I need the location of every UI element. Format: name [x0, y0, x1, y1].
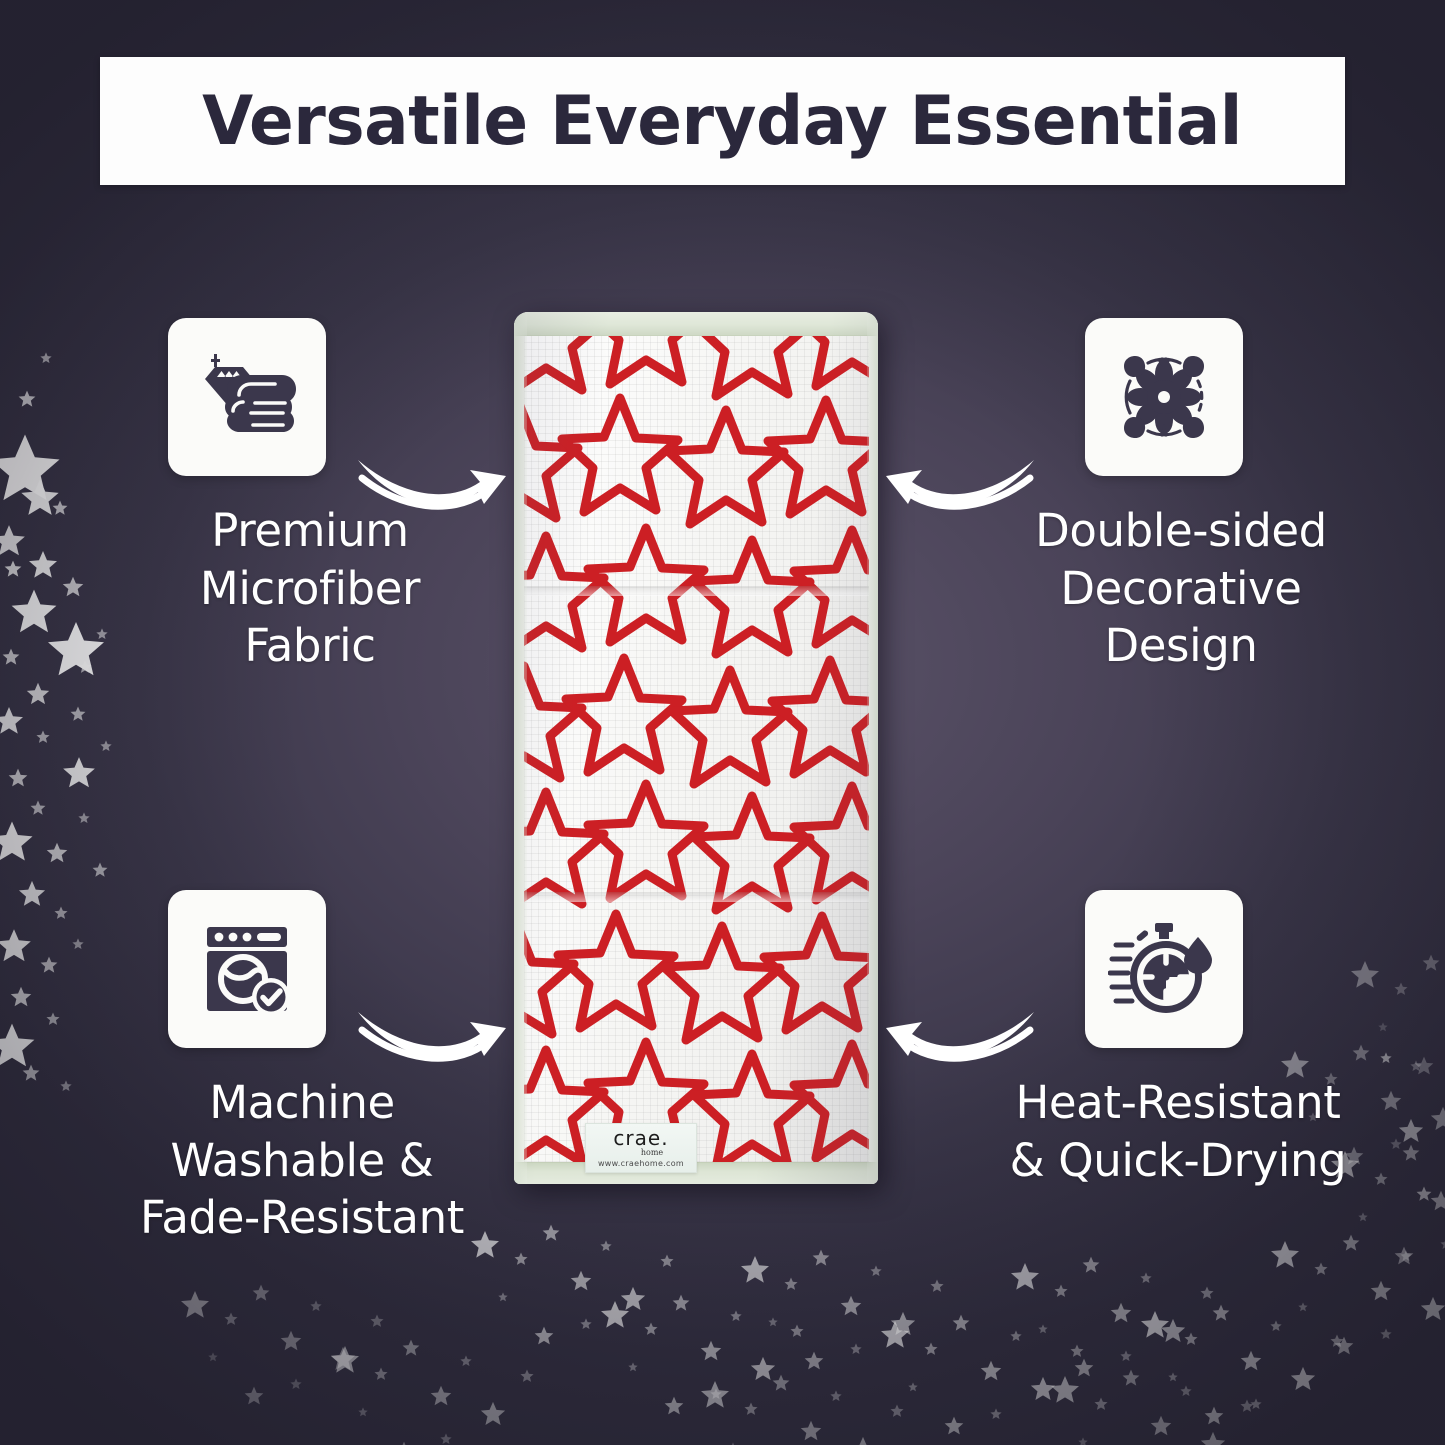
diamond-folded-towels-icon: [191, 341, 303, 453]
towel-hem-right: [867, 312, 878, 1184]
feature-label-line: & Quick-Drying: [963, 1132, 1393, 1190]
feature-label-line: Machine: [102, 1074, 502, 1132]
feature-label-line: Heat-Resistant: [963, 1074, 1393, 1132]
feature-icon-box: [1085, 318, 1243, 476]
towel-star-print: [524, 336, 869, 1162]
feature-icon-box: [1085, 890, 1243, 1048]
towel-fabric-field: [524, 336, 869, 1162]
ornamental-flower-pattern-icon: [1108, 341, 1220, 453]
feature-machine-washable-fade-resistant: Machine Washable & Fade-Resistant: [92, 890, 512, 1247]
page-title: Versatile Everyday Essential: [203, 82, 1243, 161]
feature-label: Premium Microfiber Fabric: [110, 502, 510, 675]
feature-label: Heat-Resistant & Quick-Drying: [963, 1074, 1393, 1189]
feature-label-line: Premium: [110, 502, 510, 560]
feature-label: Double-sided Decorative Design: [971, 502, 1391, 675]
product-towel-image: [514, 312, 878, 1184]
feature-label: Machine Washable & Fade-Resistant: [102, 1074, 502, 1247]
brand-name: crae.: [613, 1128, 668, 1148]
towel-fold-line: [524, 892, 869, 902]
towel-fold-line: [524, 586, 869, 596]
feature-label-line: Fabric: [110, 617, 510, 675]
brand-care-label: crae. home www.craehome.com: [585, 1123, 697, 1173]
feature-premium-microfiber-fabric: Premium Microfiber Fabric: [92, 318, 512, 675]
washing-machine-check-icon: [191, 913, 303, 1025]
towel-hem-top: [514, 312, 878, 336]
brand-url: www.craehome.com: [598, 1160, 684, 1168]
stopwatch-droplet-icon: [1108, 913, 1220, 1025]
title-banner: Versatile Everyday Essential: [100, 57, 1345, 185]
feature-heat-resistant-quick-drying: Heat-Resistant & Quick-Drying: [935, 890, 1355, 1189]
feature-icon-box: [168, 318, 326, 476]
towel-hem-left: [514, 312, 527, 1184]
feature-label-line: Microfiber: [110, 560, 510, 618]
feature-label-line: Design: [971, 617, 1391, 675]
feature-label-line: Decorative: [971, 560, 1391, 618]
infographic-canvas: Versatile Everyday Essential: [0, 0, 1445, 1445]
feature-icon-box: [168, 890, 326, 1048]
feature-label-line: Double-sided: [971, 502, 1391, 560]
brand-sub: home: [641, 1149, 663, 1157]
feature-label-line: Washable &: [102, 1132, 502, 1190]
feature-label-line: Fade-Resistant: [102, 1189, 502, 1247]
feature-double-sided-decorative-design: Double-sided Decorative Design: [935, 318, 1355, 675]
